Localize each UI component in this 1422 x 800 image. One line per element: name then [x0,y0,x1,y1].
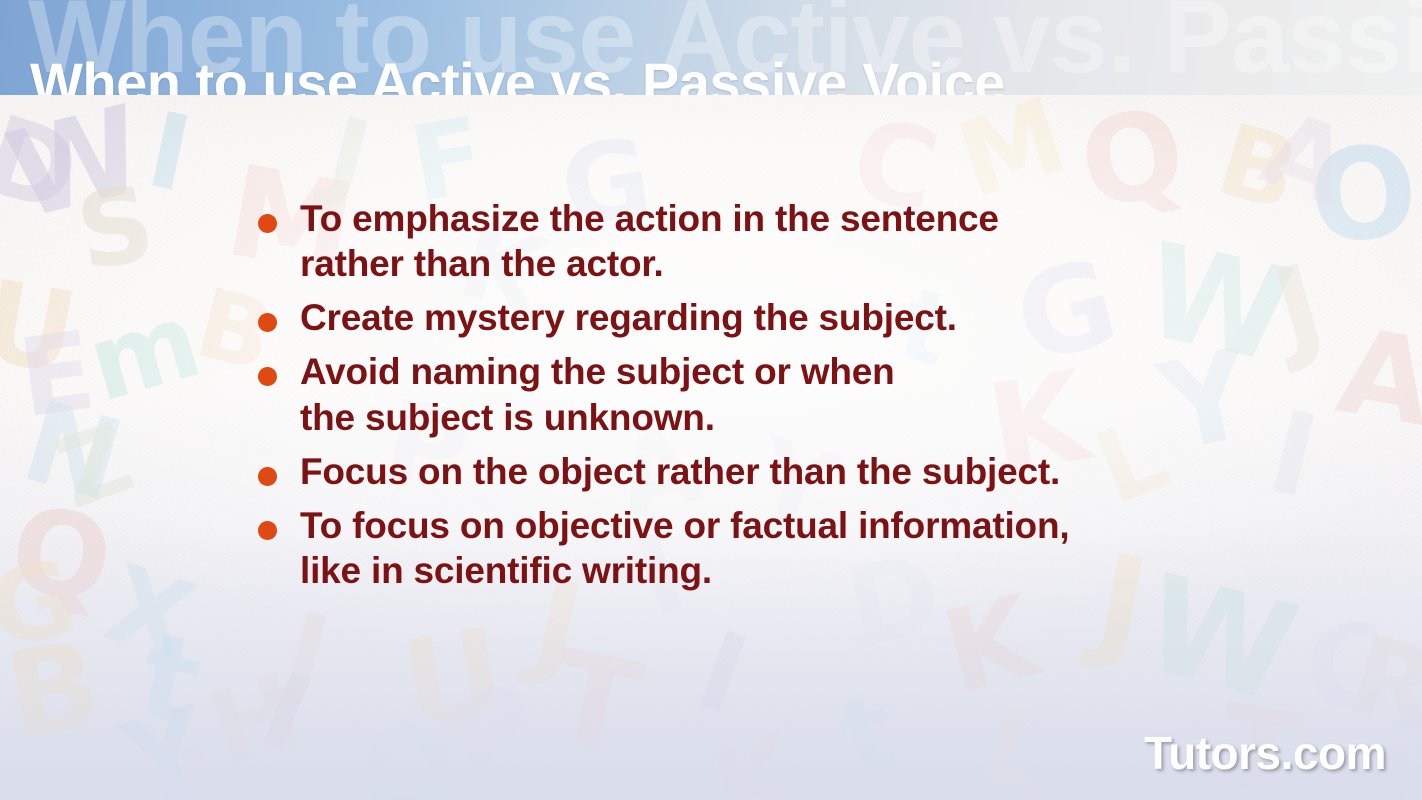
bullet-item: Avoid naming the subject or when the sub… [258,349,1258,439]
tutors-com-logo: Tutors.com [1144,726,1386,780]
page-title: When to use Active vs. Passive Voice [30,50,1005,95]
bullet-item: To focus on objective or factual informa… [258,503,1258,593]
bullet-item: Focus on the object rather than the subj… [258,449,1258,494]
bullet-text: To emphasize the action in the sentence … [300,196,1258,286]
bullet-dot-icon [258,214,277,233]
title-banner: When to use Active vs. Passive Voice Whe… [0,0,1422,95]
bullet-dot-icon [258,521,277,540]
bullet-dot-icon [258,467,277,486]
bullet-dot-icon [258,313,277,332]
bullet-item: To emphasize the action in the sentence … [258,196,1258,286]
bullet-text: To focus on objective or factual informa… [300,503,1258,593]
bullet-text: Avoid naming the subject or when the sub… [300,349,1258,439]
bullet-text: Focus on the object rather than the subj… [300,449,1258,494]
bullet-item: Create mystery regarding the subject. [258,295,1258,340]
bullet-text: Create mystery regarding the subject. [300,295,1258,340]
bullet-dot-icon [258,367,277,386]
slide-canvas: WDISUmBENZQGXBtYIHMFJGCQBOAMKGWJAYtKILPA… [0,0,1422,800]
bullet-list: To emphasize the action in the sentence … [258,196,1258,602]
